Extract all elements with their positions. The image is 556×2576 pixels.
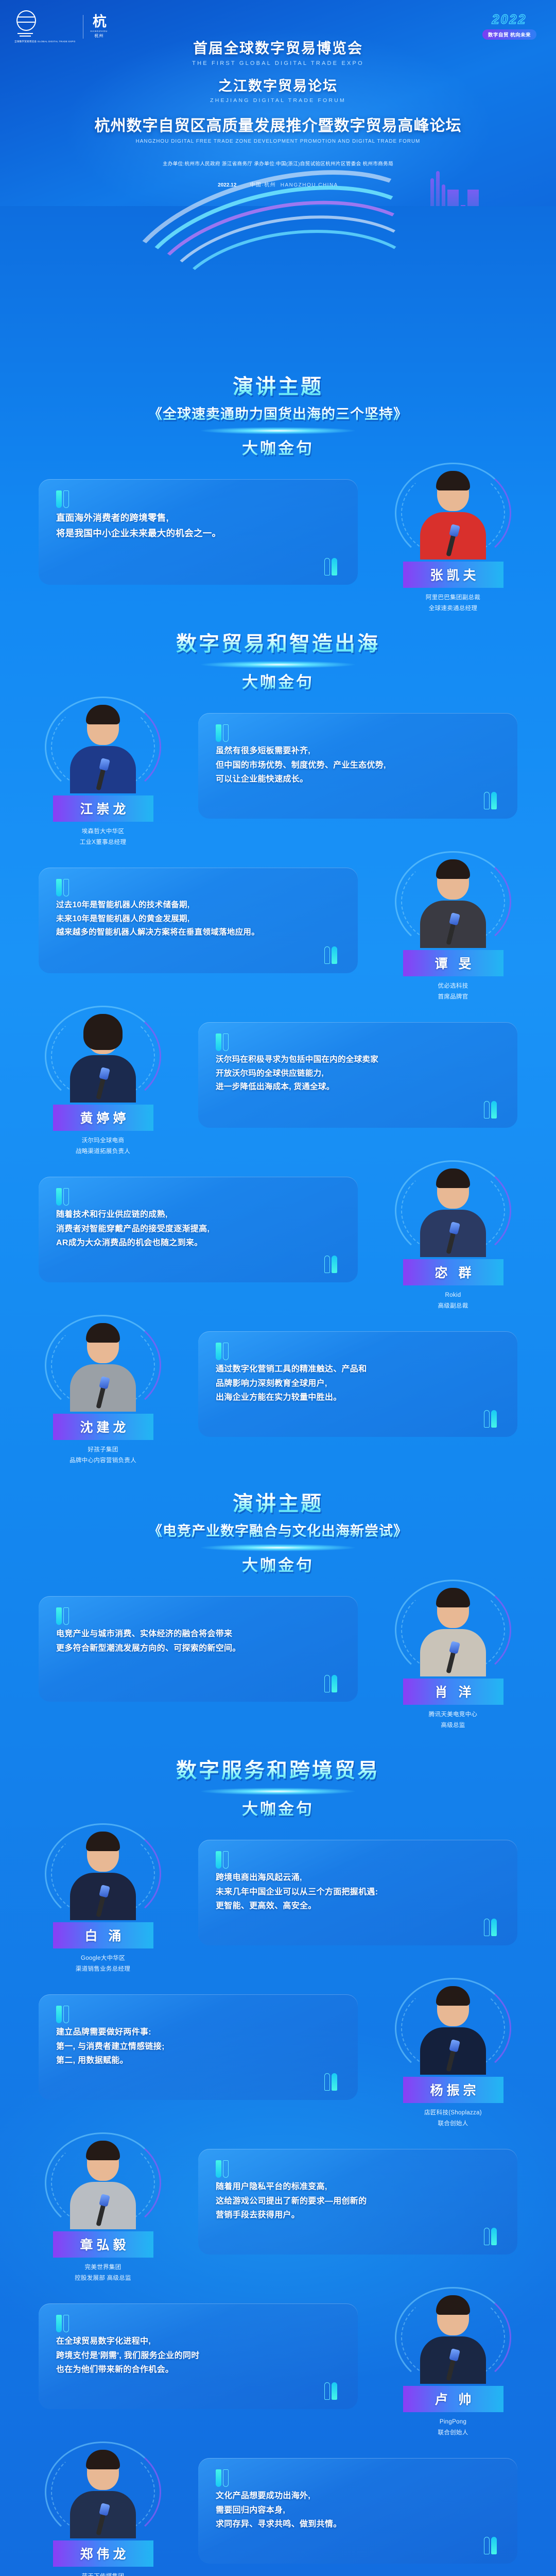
speaker-block: 沈建龙 好孩子集团品牌中心内容营销负责人	[39, 1319, 167, 1467]
speaker-photo	[399, 1982, 507, 2075]
quote-open-icon	[56, 490, 69, 509]
speaker-block: 郑伟龙 蓝天下传媒集团总裁	[39, 2446, 167, 2576]
expo-title-cn: 首届全球数字贸易博览会	[0, 37, 556, 58]
section-theme-1: 演讲主题 《全球速卖通助力国货出海的三个坚持》 大咖金句	[0, 357, 556, 462]
speaker-block: 卢 帅 PingPong联合创始人	[389, 2291, 517, 2439]
quote-card: 过去10年是智能机器人的技术储备期,未来10年是智能机器人的黄金发展期,越来越多…	[39, 868, 358, 973]
header-titles: 首届全球数字贸易博览会 THE FIRST GLOBAL DIGITAL TRA…	[0, 0, 556, 188]
quote-text: 直面海外消费者的跨境零售,将是我国中小企业未来最大的机会之一。	[56, 510, 340, 541]
section-theme-2: 演讲主题 《电竞产业数字融合与文化出海新尝试》 大咖金句	[0, 1468, 556, 1579]
glow-divider	[201, 1544, 355, 1551]
speaker-name: 章弘毅	[53, 2231, 153, 2258]
quote-row: 电竞产业与城市消费、实体经济的融合将会带来更多符合新型潮流发展方向的、可探索的新…	[0, 1579, 556, 1733]
quote-card: 通过数字化营销工具的精准触达、产品和品牌影响力深刻教育全球用户,出海企业方能在实…	[198, 1331, 517, 1437]
theme-sub-1: 大咖金句	[0, 435, 556, 459]
quote-open-icon	[216, 2160, 229, 2179]
header-place-cn: 中国·杭州	[250, 182, 276, 188]
quote-close-icon	[324, 1674, 337, 1692]
speaker-photo	[399, 467, 507, 560]
theme-title-1: 《全球速卖通助力国货出海的三个坚持》	[0, 403, 556, 423]
quote-text: 跨境电商出海风起云涌,未来几年中国企业可以从三个方面把握机遇:更智能、更高效、高…	[216, 1871, 500, 1913]
speaker-name: 江崇龙	[53, 795, 153, 822]
quote-text: 沃尔玛在积极寻求为包括中国在内的全球卖家开放沃尔玛的全球供应链能力,进一步降低出…	[216, 1053, 500, 1094]
speaker-name: 谭 旻	[403, 950, 503, 976]
section-title-4: 数字服务和跨境贸易	[0, 1754, 556, 1784]
quote-card: 建立品牌需要做好两件事:第一, 与消费者建立情感链接;第二, 用数据赋能。	[39, 1994, 358, 2100]
quote-text: 过去10年是智能机器人的技术储备期,未来10年是智能机器人的黄金发展期,越来越多…	[56, 899, 340, 940]
quote-text: 电竞产业与城市消费、实体经济的融合将会带来更多符合新型潮流发展方向的、可探索的新…	[56, 1627, 340, 1655]
speaker-title: 蓝天下传媒集团总裁	[39, 2571, 167, 2576]
glow-divider	[201, 661, 355, 668]
speaker-block: 江崇龙 埃森哲大中华区工业X董事总经理	[39, 701, 167, 849]
speaker-photo	[399, 855, 507, 948]
quote-card: 虽然有很多短板需要补齐,但中国的市场优势、制度优势、产业生态优势,可以让企业能快…	[198, 713, 517, 819]
speaker-name: 黄婷婷	[53, 1105, 153, 1131]
speaker-name: 宓 群	[403, 1259, 503, 1285]
speaker-photo	[49, 2446, 157, 2538]
speaker-name: 肖 洋	[403, 1679, 503, 1705]
speaker-title: 优必选科技首席品牌官	[389, 981, 517, 1003]
speaker-block: 白 涌 Google大中华区渠道销售业务总经理	[39, 1827, 167, 1975]
quote-text: 在全球贸易数字化进程中,跨境支付是'刚需', 我们服务企业的同时也在为他们带来新…	[56, 2334, 340, 2377]
quote-close-icon	[324, 945, 337, 964]
quote-open-icon	[216, 1851, 229, 1870]
header-organizers: 主办单位:杭州市人民政府 浙江省商务厅 承办单位:中国(浙江)自贸试验区杭州片区…	[0, 160, 556, 167]
quote-text: 文化产品想要成功出海外,需要回归内容本身,求同存异、寻求共鸣、做到共情。	[216, 2489, 500, 2532]
speaker-block: 杨振宗 店匠科技(Shoplazza)联合创始人	[389, 1982, 517, 2130]
quote-row: 随着技术和行业供应链的成熟,消费者对智能穿戴产品的接受度逐渐提高,AR成为大众消…	[0, 1159, 556, 1314]
header-date: 2022.12	[218, 182, 236, 188]
speaker-title: 店匠科技(Shoplazza)联合创始人	[389, 2108, 517, 2130]
header-place-en: HANGZHOU CHINA	[281, 182, 338, 188]
quote-row: 沈建龙 好孩子集团品牌中心内容营销负责人 通过数字化营销工具的精准触达、产品和品…	[0, 1314, 556, 1468]
speaker-name: 沈建龙	[53, 1414, 153, 1440]
speaker-block: 张凯夫 阿里巴巴集团副总裁全球速卖通总经理	[389, 467, 517, 615]
quote-row: 直面海外消费者的跨境零售,将是我国中小企业未来最大的机会之一。 张凯夫 阿里巴巴…	[0, 462, 556, 603]
quote-row: 郑伟龙 蓝天下传媒集团总裁 文化产品想要成功出海外,需要回归内容本身,求同存异、…	[0, 2441, 556, 2576]
quote-row: 黄婷婷 沃尔玛全球电商战略渠道拓展负责人 沃尔玛在积极寻求为包括中国在内的全球卖…	[0, 1005, 556, 1159]
main-title-en: HANGZHOU DIGITAL FREE TRADE ZONE DEVELOP…	[0, 139, 556, 144]
quote-close-icon	[324, 2381, 337, 2400]
quote-text: 虽然有很多短板需要补齐,但中国的市场优势、制度优势、产业生态优势,可以让企业能快…	[216, 744, 500, 787]
quote-close-icon	[483, 1409, 497, 1428]
quote-close-icon	[483, 2536, 497, 2554]
section-digital-service: 数字服务和跨境贸易 大咖金句	[0, 1733, 556, 1822]
quote-open-icon	[56, 2006, 69, 2024]
quote-row: 建立品牌需要做好两件事:第一, 与消费者建立情感链接;第二, 用数据赋能。 杨振…	[0, 1977, 556, 2131]
speaker-photo	[49, 701, 157, 793]
theme-label-2: 演讲主题	[0, 1487, 556, 1517]
quote-card: 文化产品想要成功出海外,需要回归内容本身,求同存异、寻求共鸣、做到共情。	[198, 2458, 517, 2564]
theme-title-2: 《电竞产业数字融合与文化出海新尝试》	[0, 1520, 556, 1540]
glow-divider	[201, 427, 355, 434]
speaker-name: 张凯夫	[403, 562, 503, 588]
speaker-title: PingPong联合创始人	[389, 2417, 517, 2439]
quote-open-icon	[56, 2315, 69, 2333]
glow-divider	[201, 1788, 355, 1795]
quote-open-icon	[216, 724, 229, 743]
quote-text: 随着用户隐私平台的标准变高,这给游戏公司提出了新的要求—用创新的营销手段去获得用…	[216, 2180, 500, 2223]
section-sub-2: 大咖金句	[0, 669, 556, 692]
section-title-2: 数字贸易和智造出海	[0, 627, 556, 657]
quote-close-icon	[324, 2072, 337, 2091]
quote-card: 直面海外消费者的跨境零售,将是我国中小企业未来最大的机会之一。	[39, 479, 358, 585]
speaker-block: 黄婷婷 沃尔玛全球电商战略渠道拓展负责人	[39, 1010, 167, 1158]
quote-text: 随着技术和行业供应链的成熟,消费者对智能穿戴产品的接受度逐渐提高,AR成为大众消…	[56, 1208, 340, 1250]
quote-row: 白 涌 Google大中华区渠道销售业务总经理 跨境电商出海风起云涌,未来几年中…	[0, 1822, 556, 1977]
poster-root: 全球数字贸易博览会 GLOBAL DIGITAL TRADE EXPO 杭 HA…	[0, 0, 556, 2576]
speaker-photo	[399, 1584, 507, 1676]
speaker-title: Rokid高级副总裁	[389, 1290, 517, 1312]
speaker-photo	[399, 2291, 507, 2384]
forum-title-en: ZHEJIANG DIGITAL TRADE FORUM	[0, 97, 556, 104]
section-sub-4: 大咖金句	[0, 1796, 556, 1819]
speaker-name: 郑伟龙	[53, 2540, 153, 2567]
quote-card: 在全球贸易数字化进程中,跨境支付是'刚需', 我们服务企业的同时也在为他们带来新…	[39, 2303, 358, 2409]
speaker-name: 卢 帅	[403, 2386, 503, 2412]
speaker-photo	[399, 1164, 507, 1257]
speaker-title: 腾讯天美电竞中心高级总监	[389, 1709, 517, 1732]
quote-row: 在全球贸易数字化进程中,跨境支付是'刚需', 我们服务企业的同时也在为他们带来新…	[0, 2286, 556, 2441]
quote-row: 过去10年是智能机器人的技术储备期,未来10年是智能机器人的黄金发展期,越来越多…	[0, 850, 556, 1005]
speaker-photo	[49, 2137, 157, 2229]
quote-text: 通过数字化营销工具的精准触达、产品和品牌影响力深刻教育全球用户,出海企业方能在实…	[216, 1362, 500, 1405]
quote-row: 江崇龙 埃森哲大中华区工业X董事总经理 虽然有很多短板需要补齐,但中国的市场优势…	[0, 696, 556, 850]
main-title-cn: 杭州数字自贸区高质量发展推介暨数字贸易高峰论坛	[0, 113, 556, 135]
quote-open-icon	[56, 1188, 69, 1207]
quote-card: 电竞产业与城市消费、实体经济的融合将会带来更多符合新型潮流发展方向的、可探索的新…	[39, 1596, 358, 1702]
quote-open-icon	[216, 1033, 229, 1052]
speaker-name: 杨振宗	[403, 2077, 503, 2103]
poster-header: 全球数字贸易博览会 GLOBAL DIGITAL TRADE EXPO 杭 HA…	[0, 0, 556, 206]
speaker-block: 章弘毅 完美世界集团控股发展部 高级总监	[39, 2137, 167, 2284]
speaker-title: 沃尔玛全球电商战略渠道拓展负责人	[39, 1136, 167, 1158]
speaker-name: 白 涌	[53, 1922, 153, 1948]
quote-row: 章弘毅 完美世界集团控股发展部 高级总监 随着用户隐私平台的标准变高,这给游戏公…	[0, 2131, 556, 2286]
quote-close-icon	[324, 557, 337, 575]
quote-text: 建立品牌需要做好两件事:第一, 与消费者建立情感链接;第二, 用数据赋能。	[56, 2025, 340, 2068]
theme-label-1: 演讲主题	[0, 370, 556, 400]
speaker-title: 好孩子集团品牌中心内容营销负责人	[39, 1445, 167, 1467]
speaker-block: 宓 群 Rokid高级副总裁	[389, 1164, 517, 1312]
speaker-block: 谭 旻 优必选科技首席品牌官	[389, 855, 517, 1003]
speaker-photo	[49, 1827, 157, 1920]
speaker-title: Google大中华区渠道销售业务总经理	[39, 1953, 167, 1975]
skyline-icon	[430, 171, 479, 206]
quote-open-icon	[56, 1607, 69, 1626]
section-digital-trade: 数字贸易和智造出海 大咖金句	[0, 603, 556, 696]
forum-title-cn: 之江数字贸易论坛	[0, 75, 556, 95]
speaker-title: 完美世界集团控股发展部 高级总监	[39, 2262, 167, 2284]
speaker-title: 埃森哲大中华区工业X董事总经理	[39, 826, 167, 849]
expo-title-en: THE FIRST GLOBAL DIGITAL TRADE EXPO	[0, 60, 556, 66]
quote-open-icon	[216, 2469, 229, 2488]
quote-open-icon	[56, 879, 69, 897]
quote-card: 跨境电商出海风起云涌,未来几年中国企业可以从三个方面把握机遇:更智能、更高效、高…	[198, 1840, 517, 1945]
quote-card: 随着技术和行业供应链的成熟,消费者对智能穿戴产品的接受度逐渐提高,AR成为大众消…	[39, 1177, 358, 1282]
speaker-photo	[49, 1319, 157, 1412]
quote-close-icon	[483, 1918, 497, 1936]
quote-card: 随着用户隐私平台的标准变高,这给游戏公司提出了新的要求—用创新的营销手段去获得用…	[198, 2149, 517, 2255]
quote-close-icon	[324, 1255, 337, 1273]
speaker-block: 肖 洋 腾讯天美电竞中心高级总监	[389, 1584, 517, 1732]
theme-sub-2: 大咖金句	[0, 1552, 556, 1575]
quote-close-icon	[483, 791, 497, 809]
quote-open-icon	[216, 1343, 229, 1361]
speaker-photo	[49, 1010, 157, 1103]
quote-close-icon	[483, 1100, 497, 1118]
quote-close-icon	[483, 2227, 497, 2245]
quote-card: 沃尔玛在积极寻求为包括中国在内的全球卖家开放沃尔玛的全球供应链能力,进一步降低出…	[198, 1022, 517, 1128]
